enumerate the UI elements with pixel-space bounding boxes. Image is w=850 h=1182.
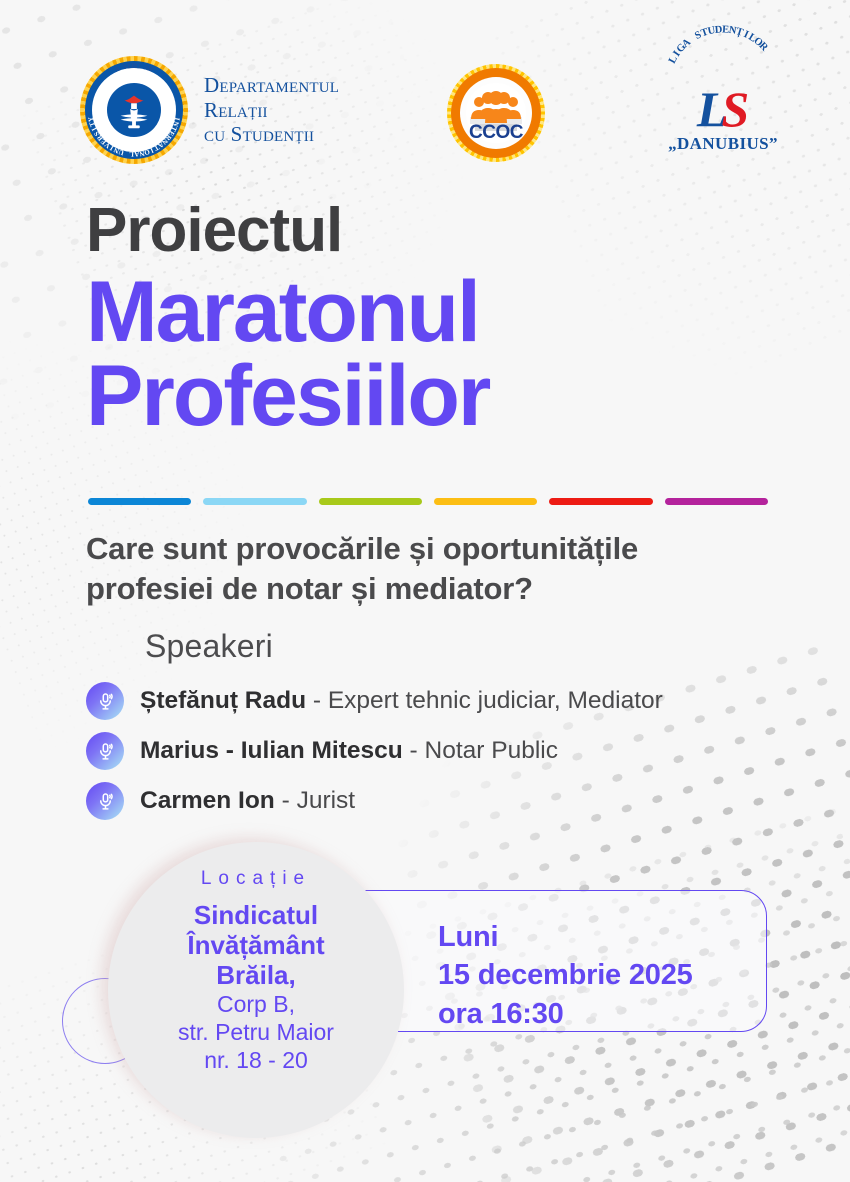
speakers-heading: Speakeri bbox=[145, 628, 273, 665]
speaker-name: Carmen Ion bbox=[140, 787, 275, 814]
venue-address: Corp B, str. Petru Maior nr. 18 - 20 bbox=[178, 991, 334, 1074]
question-line-1: Care sunt provocările și oportunitățile bbox=[86, 529, 796, 569]
logo-ccoc: CENTRUL DE CONSILIERE ȘI ORIENTARE ÎN CA… bbox=[447, 64, 545, 162]
danubius-seal-icon: A VERO ADDANUBIUSINTERNATIONAL UNIVERSIT… bbox=[80, 56, 188, 164]
bar-magenta bbox=[665, 498, 768, 505]
microphone-icon bbox=[86, 732, 124, 770]
bar-blue bbox=[88, 498, 191, 505]
venue-name-line-3: Brăila, bbox=[187, 960, 324, 990]
ccoc-badge-icon: CENTRUL DE CONSILIERE ȘI ORIENTARE ÎN CA… bbox=[447, 64, 545, 162]
title-line-profesiilor: Profesiilor bbox=[86, 354, 786, 438]
venue-name-line-1: Sindicatul bbox=[187, 900, 324, 930]
speaker-role: Jurist bbox=[297, 787, 356, 814]
schedule-date: 15 decembrie 2025 bbox=[438, 956, 693, 994]
speaker-row: Marius - Iulian Mitescu - Notar Public bbox=[86, 728, 806, 774]
speaker-text: Marius - Iulian Mitescu - Notar Public bbox=[140, 737, 558, 765]
bar-yellow bbox=[434, 498, 537, 505]
venue-address-line-1: Corp B, bbox=[178, 991, 334, 1019]
venue-circle: Locație Sindicatul Învățământ Brăila, Co… bbox=[108, 842, 404, 1138]
page-title: Proiectul Maratonul Profesiilor bbox=[86, 200, 786, 439]
bar-green bbox=[319, 498, 422, 505]
torch-icon bbox=[111, 87, 157, 133]
department-line-2: Relații bbox=[204, 98, 339, 123]
venue-name: Sindicatul Învățământ Brăila, bbox=[187, 900, 324, 990]
speaker-separator: - bbox=[275, 787, 297, 814]
speaker-row: Ștefănuț Radu - Expert tehnic judiciar, … bbox=[86, 678, 806, 724]
speaker-name: Marius - Iulian Mitescu bbox=[140, 737, 403, 764]
department-line-1: Departamentul bbox=[204, 73, 339, 98]
poster-canvas: A VERO ADDANUBIUSINTERNATIONAL UNIVERSIT… bbox=[0, 0, 850, 1182]
speaker-role: Expert tehnic judiciar, Mediator bbox=[328, 687, 663, 714]
speaker-role: Notar Public bbox=[425, 737, 558, 764]
speaker-row: Carmen Ion - Jurist bbox=[86, 778, 806, 824]
question-line-2: profesiei de notar și mediator? bbox=[86, 569, 796, 609]
venue-address-line-2: str. Petru Maior bbox=[178, 1019, 334, 1047]
subtitle-question: Care sunt provocările și oportunitățile … bbox=[86, 529, 796, 608]
speakers-list: Ștefănuț Radu - Expert tehnic judiciar, … bbox=[86, 678, 806, 828]
logo-liga-studentilor: LIGA STUDENȚILOR LS „DANUBIUS” bbox=[648, 50, 798, 154]
microphone-icon bbox=[86, 782, 124, 820]
ls-monogram-icon: LS bbox=[648, 86, 798, 132]
logo-bar: A VERO ADDANUBIUSINTERNATIONAL UNIVERSIT… bbox=[0, 48, 850, 183]
department-line-3: cu Studenții bbox=[204, 122, 339, 147]
venue-label: Locație bbox=[201, 868, 311, 890]
schedule-text: Luni 15 decembrie 2025 ora 16:30 bbox=[438, 918, 693, 1033]
department-name: Departamentul Relații cu Studenții bbox=[204, 73, 339, 147]
ccoc-acronym: CCOC bbox=[447, 122, 545, 144]
liga-arc-text: LIGA STUDENȚILOR bbox=[648, 50, 798, 92]
speaker-separator: - bbox=[306, 687, 328, 714]
logo-danubius-university: A VERO ADDANUBIUSINTERNATIONAL UNIVERSIT… bbox=[80, 56, 339, 164]
schedule-day: Luni bbox=[438, 918, 693, 956]
speaker-name: Ștefănuț Radu bbox=[140, 687, 306, 714]
venue-name-line-2: Învățământ bbox=[187, 930, 324, 960]
microphone-icon bbox=[86, 682, 124, 720]
venue-address-line-3: nr. 18 - 20 bbox=[178, 1047, 334, 1075]
bar-red bbox=[549, 498, 652, 505]
schedule-time: ora 16:30 bbox=[438, 995, 693, 1033]
divider-bars bbox=[88, 498, 768, 505]
title-line-maratonul: Maratonul bbox=[86, 270, 786, 354]
title-line-project: Proiectul bbox=[86, 200, 786, 262]
speaker-text: Ștefănuț Radu - Expert tehnic judiciar, … bbox=[140, 687, 663, 715]
speaker-separator: - bbox=[403, 737, 425, 764]
liga-name: „DANUBIUS” bbox=[648, 134, 798, 154]
bar-light-blue bbox=[203, 498, 306, 505]
speaker-text: Carmen Ion - Jurist bbox=[140, 787, 355, 815]
